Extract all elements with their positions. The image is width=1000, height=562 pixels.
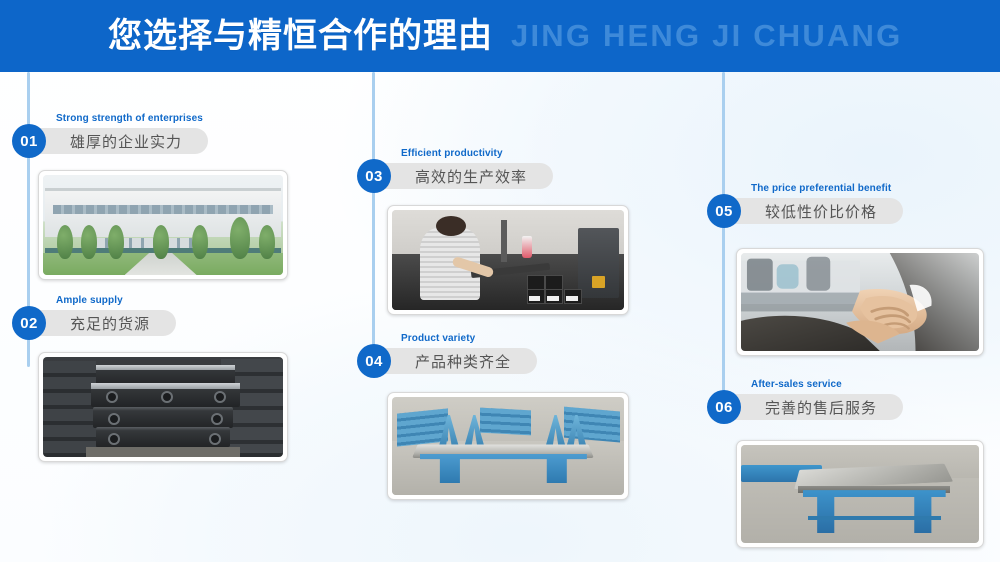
- feature-photo-02[interactable]: [38, 352, 288, 462]
- feature-pill-06: 完善的售后服务: [725, 394, 903, 420]
- feature-pill-05: 较低性价比价格: [725, 198, 903, 224]
- feature-chinese-label-01: 雄厚的企业实力: [70, 131, 182, 152]
- feature-chinese-label-04: 产品种类齐全: [415, 351, 511, 372]
- feature-pill-04: 产品种类齐全: [375, 348, 537, 374]
- stacked-molds-image: [43, 357, 283, 457]
- feature-photo-06[interactable]: [736, 440, 984, 548]
- feature-english-label-06: After-sales service: [751, 379, 842, 390]
- page-title: 您选择与精恒合作的理由: [108, 0, 493, 72]
- feature-english-label-02: Ample supply: [56, 295, 123, 306]
- feature-photo-01[interactable]: [38, 170, 288, 280]
- timeline-rail-column-3: [722, 72, 725, 420]
- feature-pill-03: 高效的生产效率: [375, 163, 553, 189]
- feature-photo-03[interactable]: [387, 205, 629, 315]
- blue-machine-tables-image: [392, 397, 624, 495]
- factory-building-image: [43, 175, 283, 275]
- surface-plate-table-image: [741, 445, 979, 543]
- feature-chinese-label-03: 高效的生产效率: [415, 166, 527, 187]
- feature-badge-02[interactable]: 02: [12, 306, 46, 340]
- feature-badge-03[interactable]: 03: [357, 159, 391, 193]
- timeline-rail-column-2: [372, 72, 375, 375]
- feature-english-label-05: The price preferential benefit: [751, 183, 891, 194]
- feature-english-label-03: Efficient productivity: [401, 148, 503, 159]
- feature-badge-04[interactable]: 04: [357, 344, 391, 378]
- header-banner: 您选择与精恒合作的理由 JING HENG JI CHUANG: [0, 0, 1000, 72]
- feature-badge-01[interactable]: 01: [12, 124, 46, 158]
- feature-badge-06[interactable]: 06: [707, 390, 741, 424]
- page-subtitle: JING HENG JI CHUANG: [511, 0, 902, 72]
- promo-banner-page: 您选择与精恒合作的理由 JING HENG JI CHUANG Strong s…: [0, 0, 1000, 562]
- feature-photo-04[interactable]: [387, 392, 629, 500]
- feature-pill-01: 雄厚的企业实力: [30, 128, 208, 154]
- feature-chinese-label-05: 较低性价比价格: [765, 201, 877, 222]
- feature-badge-05[interactable]: 05: [707, 194, 741, 228]
- feature-photo-05[interactable]: [736, 248, 984, 356]
- feature-english-label-04: Product variety: [401, 333, 475, 344]
- feature-chinese-label-02: 充足的货源: [70, 313, 150, 334]
- business-handshake-image: [741, 253, 979, 351]
- worker-workbench-image: [392, 210, 624, 310]
- feature-chinese-label-06: 完善的售后服务: [765, 397, 877, 418]
- feature-english-label-01: Strong strength of enterprises: [56, 113, 203, 124]
- feature-pill-02: 充足的货源: [30, 310, 176, 336]
